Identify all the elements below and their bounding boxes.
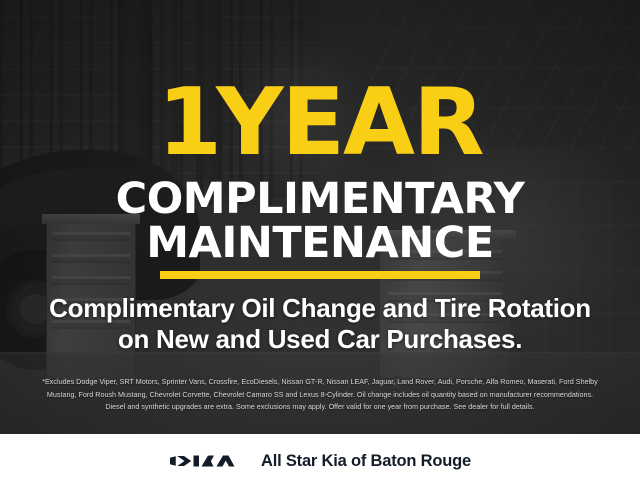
kia-logo (169, 450, 243, 472)
yellow-divider-bar (160, 271, 480, 279)
disclaimer-line-3: Diesel and synthetic upgrades are extra.… (14, 401, 626, 414)
subhead-maintenance: MAINTENANCE (0, 222, 640, 266)
dealer-footer-bar: All Star Kia of Baton Rouge (0, 434, 640, 488)
dealer-name: All Star Kia of Baton Rouge (261, 452, 471, 471)
subhead-complimentary: COMPLIMENTARY (0, 178, 640, 222)
tagline-line-1: Complimentary Oil Change and Tire Rotati… (0, 293, 640, 324)
headline-word: YEAR (216, 68, 482, 176)
tagline-line-2: on New and Used Car Purchases. (0, 324, 640, 355)
promotional-banner: 1YEAR COMPLIMENTARY MAINTENANCE Complime… (0, 0, 640, 488)
disclaimer-line-2: Mustang, Ford Roush Mustang, Chevrolet C… (14, 389, 626, 402)
banner-content: 1YEAR COMPLIMENTARY MAINTENANCE Complime… (0, 0, 640, 488)
headline-number: 1 (157, 68, 216, 176)
disclaimer-fine-print: *Excludes Dodge Viper, SRT Motors, Sprin… (14, 376, 626, 414)
headline-1-year: 1YEAR (0, 78, 640, 167)
disclaimer-line-1: *Excludes Dodge Viper, SRT Motors, Sprin… (14, 376, 626, 389)
